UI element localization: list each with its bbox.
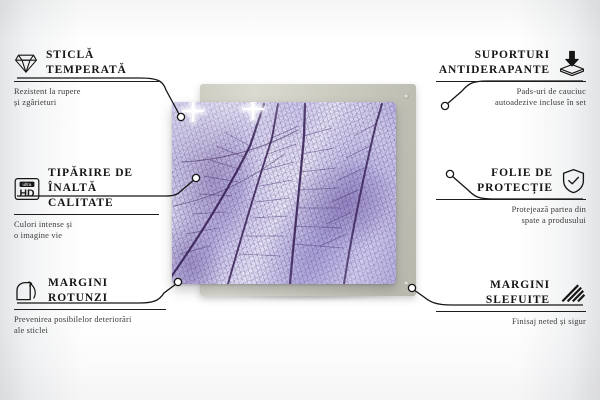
feature-folie-de-protectie: FOLIE DE PROTECȚIE Protejează partea din… [436, 166, 586, 226]
feature-suporturi-antiderapante: SUPORTURI ANTIDERAPANTE Pads-uri de cauc… [436, 48, 586, 108]
feature-divider [436, 81, 586, 82]
connector-node [177, 113, 184, 120]
feature-title-line1: STICLĂ [46, 48, 127, 63]
feature-header: FOLIE DE PROTECȚIE [436, 166, 586, 196]
anti-slip-pad-icon [558, 50, 586, 76]
feature-title-line1: MARGINI [48, 276, 108, 291]
connector-node [192, 174, 199, 181]
feature-title-line2: ÎNALTĂ CALITATE [48, 181, 159, 211]
ultra-hd-icon: ultra HD [14, 177, 40, 201]
feature-title-line1: TIPĂRIRE DE [48, 166, 159, 181]
feature-divider [436, 199, 586, 200]
feature-title-line2: SLEFUITE [486, 293, 550, 308]
feature-desc-line2: o imagine vie [14, 230, 159, 241]
feature-desc-line1: Finisaj neted și sigur [436, 316, 586, 327]
feature-title-line2: ANTIDERAPANTE [439, 63, 550, 78]
feature-desc-line1: Prevenirea posibilelor deteriorări [14, 314, 166, 325]
feature-title-line2: TEMPERATĂ [46, 63, 127, 78]
feature-desc-line1: Rezistent la rupere [14, 86, 159, 97]
ultra-hd-big-label: HD [19, 188, 35, 199]
feature-header: STICLĂ TEMPERATĂ [14, 48, 159, 78]
feature-header: SUPORTURI ANTIDERAPANTE [436, 48, 586, 78]
feature-title-line1: SUPORTURI [439, 48, 550, 63]
feature-margini-rotunzi: MARGINI ROTUNZI Prevenirea posibilelor d… [14, 276, 166, 336]
feature-divider [14, 214, 159, 215]
rounded-corner-icon [14, 280, 40, 303]
feature-title-line1: FOLIE DE [477, 166, 553, 181]
feature-desc-line2: spate a produsului [436, 215, 586, 226]
connector-node [174, 278, 181, 285]
feature-divider [14, 309, 166, 310]
feature-desc-line2: și zgârieturi [14, 97, 159, 108]
feature-desc-line1: Culori intense și [14, 219, 159, 230]
feature-divider [436, 311, 586, 312]
feature-margini-slefuite: MARGINI SLEFUITE Finisaj neted și sigur [436, 278, 586, 327]
feature-desc-line2: ale sticlei [14, 325, 166, 336]
shield-check-icon [561, 168, 586, 194]
feature-tiparire-hd: ultra HD TIPĂRIRE DE ÎNALTĂ CALITATE Cul… [14, 166, 159, 241]
diamond-icon [14, 52, 38, 74]
feature-sticla-temperata: STICLĂ TEMPERATĂ Rezistent la rupere și … [14, 48, 159, 108]
feature-title-line2: PROTECȚIE [477, 181, 553, 196]
feature-desc-line2: autoadezive incluse în set [436, 97, 586, 108]
connector-node [408, 284, 415, 291]
feature-desc-line1: Pads-uri de cauciuc [436, 86, 586, 97]
feature-title-line1: MARGINI [486, 278, 550, 293]
feature-title-line2: ROTUNZI [48, 291, 108, 306]
feature-header: MARGINI SLEFUITE [436, 278, 586, 308]
feature-header: MARGINI ROTUNZI [14, 276, 166, 306]
beveled-edge-icon [558, 281, 586, 305]
feature-header: ultra HD TIPĂRIRE DE ÎNALTĂ CALITATE [14, 166, 159, 211]
feature-desc-line1: Protejează partea din [436, 204, 586, 215]
ultra-hd-small-label: ultra [23, 182, 32, 187]
infographic-canvas: STICLĂ TEMPERATĂ Rezistent la rupere și … [0, 0, 600, 400]
feature-divider [14, 81, 159, 82]
